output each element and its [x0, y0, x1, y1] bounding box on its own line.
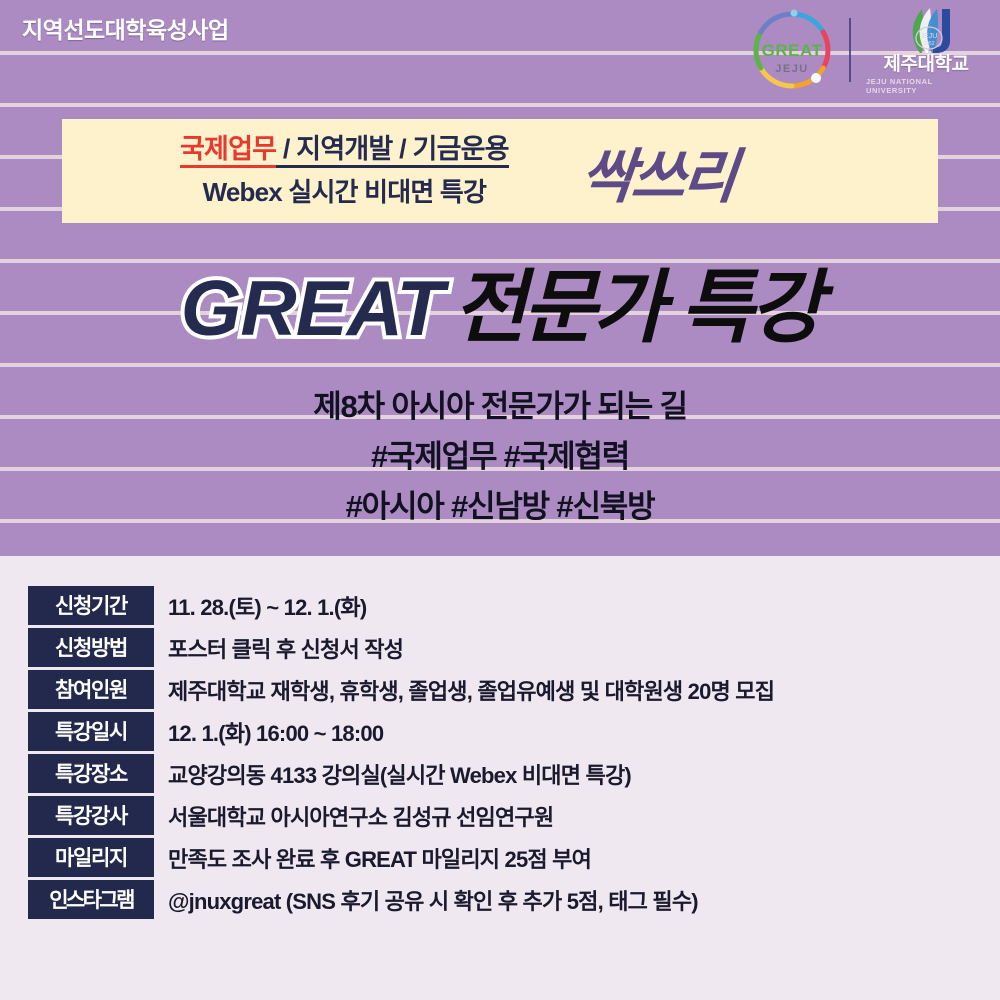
svg-text:JEJU: JEJU — [921, 33, 938, 40]
detail-value: 11. 28.(토) ~ 12. 1.(화) — [168, 590, 366, 622]
jnu-logo-english: JEJU NATIONAL UNIVERSITY — [866, 77, 986, 95]
detail-value: 만족도 조사 완료 후 GREAT 마일리지 25점 부여 — [168, 842, 591, 874]
topic-subtitle: Webex 실시간 비대면 특강 — [180, 172, 509, 209]
detail-list: 신청기간 11. 28.(토) ~ 12. 1.(화) 신청방법 포스터 클릭 … — [0, 586, 1000, 922]
jeju-national-university-logo: JEJU 1952 제주대학교 JEJU NATIONAL UNIVERSITY — [866, 5, 986, 95]
poster: 지역선도대학육성사업 GREAT JEJU — [0, 0, 1000, 1000]
detail-label: 참여인원 — [28, 670, 154, 709]
detail-row-venue: 특강장소 교양강의동 4133 강의실(실시간 Webex 비대면 특강) — [28, 754, 1000, 793]
detail-row-lecturer: 특강강사 서울대학교 아시아연구소 김성규 선임연구원 — [28, 796, 1000, 835]
logo-group: GREAT JEJU JEJU 1952 제주대학교 JEJU NATIONAL… — [750, 4, 986, 96]
topic-rest: / 지역개발 / 기금운용 — [276, 134, 509, 168]
detail-row-instagram: 인스타그램 @jnuxgreat (SNS 후기 공유 시 확인 후 추가 5점… — [28, 880, 1000, 919]
subtitle-line-3: #아시아 #신남방 #신북방 — [0, 482, 1000, 532]
detail-label: 인스타그램 — [28, 880, 154, 919]
detail-value: 교양강의동 4133 강의실(실시간 Webex 비대면 특강) — [168, 758, 631, 790]
svg-text:1952: 1952 — [923, 41, 934, 47]
detail-label: 신청방법 — [28, 628, 154, 667]
brand-wordmark: 싹쓰리 — [576, 129, 739, 214]
detail-value: @jnuxgreat (SNS 후기 공유 시 확인 후 추가 5점, 태그 필… — [168, 884, 698, 916]
topic-banner-text: 국제업무 / 지역개발 / 기금운용 Webex 실시간 비대면 특강 — [180, 133, 509, 209]
detail-row-participants: 참여인원 제주대학교 재학생, 휴학생, 졸업생, 졸업유예생 및 대학원생 2… — [28, 670, 1000, 709]
subtitle-block: 제8차 아시아 전문가가 되는 길 #국제업무 #국제협력 #아시아 #신남방 … — [0, 382, 1000, 533]
detail-label: 특강일시 — [28, 712, 154, 751]
detail-label: 특강장소 — [28, 754, 154, 793]
detail-row-mileage: 마일리지 만족도 조사 완료 후 GREAT 마일리지 25점 부여 — [28, 838, 1000, 877]
subtitle-line-2: #국제업무 #국제협력 — [0, 432, 1000, 482]
detail-value: 제주대학교 재학생, 휴학생, 졸업생, 졸업유예생 및 대학원생 20명 모집 — [168, 674, 774, 706]
detail-label: 특강강사 — [28, 796, 154, 835]
detail-row-application-method: 신청방법 포스터 클릭 후 신청서 작성 — [28, 628, 1000, 667]
jnu-emblem-icon: JEJU 1952 — [876, 5, 976, 55]
logo-divider — [849, 18, 851, 82]
great-jeju-logo: GREAT JEJU — [750, 8, 834, 92]
jnu-logo-korean: 제주대학교 — [884, 55, 969, 75]
great-logo-sub: JEJU — [750, 63, 834, 75]
page-title: 지역선도대학육성사업 — [22, 11, 229, 45]
topic-banner: 국제업무 / 지역개발 / 기금운용 Webex 실시간 비대면 특강 싹쓰리 — [62, 119, 938, 223]
detail-row-datetime: 특강일시 12. 1.(화) 16:00 ~ 18:00 — [28, 712, 1000, 751]
main-title-korean: 전문가 특강 — [453, 263, 819, 352]
topic-highlight: 국제업무 — [180, 134, 276, 168]
detail-row-application-period: 신청기간 11. 28.(토) ~ 12. 1.(화) — [28, 586, 1000, 625]
detail-value: 서울대학교 아시아연구소 김성규 선임연구원 — [168, 800, 553, 832]
great-logo-word: GREAT — [750, 41, 834, 61]
detail-value: 12. 1.(화) 16:00 ~ 18:00 — [168, 716, 383, 748]
detail-label: 신청기간 — [28, 586, 154, 625]
detail-value: 포스터 클릭 후 신청서 작성 — [168, 632, 403, 664]
main-title-english: GREAT — [181, 264, 443, 352]
subtitle-line-1: 제8차 아시아 전문가가 되는 길 — [0, 382, 1000, 432]
main-title: GREAT전문가 특강 — [0, 243, 1000, 359]
topic-line: 국제업무 / 지역개발 / 기금운용 — [180, 133, 509, 166]
detail-label: 마일리지 — [28, 838, 154, 877]
